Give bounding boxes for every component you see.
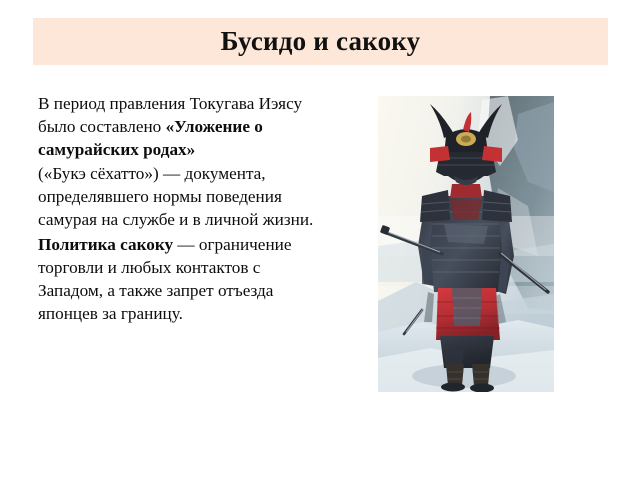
- paragraph-1: В период правления Токугава Иэясу было с…: [38, 92, 316, 161]
- paragraph-3: Политика сакоку — ограничение торговли и…: [38, 233, 316, 325]
- body-text-column: В период правления Токугава Иэясу было с…: [38, 92, 316, 325]
- title-banner: Бусидо и сакоку: [33, 18, 608, 65]
- run-plain: («Букэ сёхатто») — документа, определявш…: [38, 164, 313, 229]
- samurai-illustration: [378, 96, 554, 392]
- run-bold: Политика сакоку: [38, 235, 173, 254]
- slide-root: Бусидо и сакоку В период правления Токуг…: [0, 0, 640, 480]
- page-title: Бусидо и сакоку: [221, 28, 421, 55]
- samurai-illustration-svg: [378, 96, 554, 392]
- paragraph-2: («Букэ сёхатто») — документа, определявш…: [38, 162, 316, 231]
